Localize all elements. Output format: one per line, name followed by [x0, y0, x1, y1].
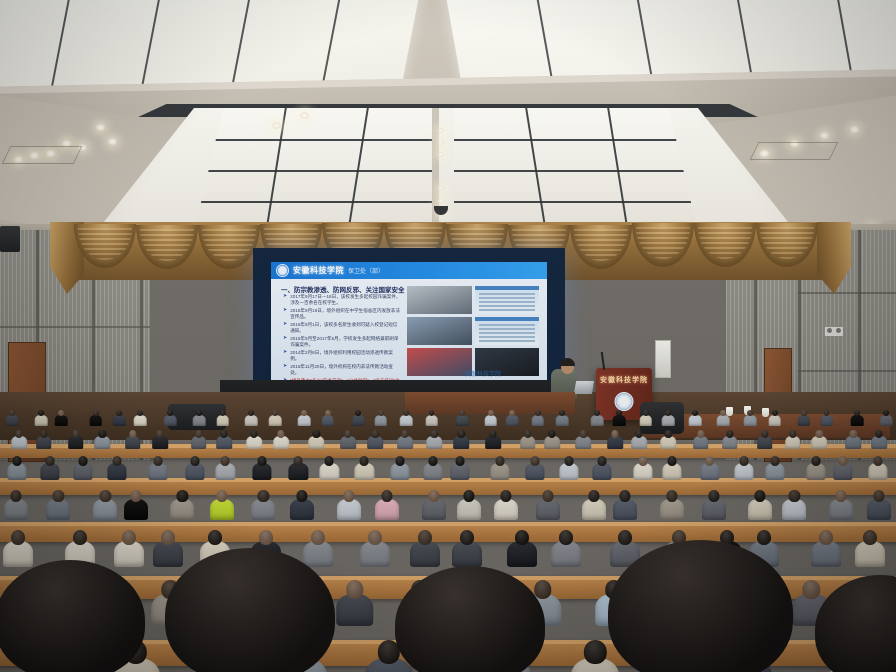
- audience-head: [618, 530, 632, 545]
- audience-torso: [613, 415, 626, 426]
- audience-member: [107, 456, 126, 482]
- foreground-head: [165, 548, 335, 672]
- slide-bullet-list: ➤2017年9月17日—18日，该校发生多起校园诈骗案件，涉及一百余名在校学生。…: [283, 294, 401, 380]
- audience-head: [418, 530, 432, 545]
- audience-head: [619, 490, 630, 502]
- audience-head: [382, 490, 393, 502]
- audience-head: [535, 410, 541, 416]
- audience-head: [854, 410, 860, 416]
- audience-head: [154, 456, 163, 466]
- audience-member: [613, 410, 626, 427]
- audience-member: [41, 456, 60, 482]
- audience-head: [272, 410, 278, 416]
- audience-member: [717, 410, 730, 427]
- bullet-text: 2016年11月20日，境外机构在校内非法传教活动查处。: [290, 364, 401, 375]
- audience-head: [208, 530, 222, 545]
- audience-torso: [591, 415, 604, 426]
- audience-head: [195, 430, 202, 438]
- bullet-text: 2014年2月8日，境外组织利用校园活动渗透传教案例。: [290, 350, 401, 361]
- audience-head: [616, 410, 622, 416]
- audience-member: [491, 456, 510, 482]
- audience-head: [72, 430, 79, 438]
- audience-head: [612, 430, 619, 438]
- audience-member: [531, 410, 544, 427]
- audience-member: [689, 410, 702, 427]
- audience-torso: [531, 415, 544, 426]
- audience-member: [782, 490, 806, 523]
- audience-head: [638, 456, 647, 466]
- audience-head: [11, 530, 25, 545]
- audience-member: [452, 530, 482, 571]
- audience-member: [871, 430, 887, 451]
- bullet-marker-icon: ➤: [283, 308, 287, 319]
- audience-head: [138, 410, 144, 416]
- bullet-marker-icon: ➤: [283, 294, 287, 305]
- audience-torso: [322, 415, 335, 426]
- audience-member: [526, 456, 545, 482]
- audience-member: [355, 456, 374, 482]
- audience-member: [397, 430, 413, 451]
- audience-head: [248, 410, 254, 416]
- audience-head: [460, 410, 466, 416]
- chat-list-screenshot: [475, 317, 540, 345]
- audience-head: [130, 490, 141, 502]
- audience-head: [819, 530, 833, 545]
- audience-head: [635, 430, 642, 438]
- audience-member: [613, 490, 637, 523]
- audience-torso: [164, 415, 177, 426]
- audience-head: [665, 430, 672, 438]
- audience-member: [829, 490, 853, 523]
- student-audience: [0, 404, 896, 672]
- audience-member: [35, 410, 48, 427]
- audience-member: [744, 410, 757, 427]
- audience-member: [216, 410, 229, 427]
- audience-member: [320, 456, 339, 482]
- audience-member: [149, 456, 168, 482]
- audience-member: [734, 456, 753, 482]
- audience-head: [378, 410, 384, 416]
- slide-subtitle: 保卫处（部）: [348, 266, 384, 275]
- audience-member: [593, 456, 612, 482]
- audience-head: [705, 456, 714, 466]
- audience-torso: [425, 415, 438, 426]
- audience-member: [298, 410, 311, 427]
- audience-head: [874, 490, 885, 502]
- audience-member: [868, 456, 887, 482]
- audience-member: [867, 490, 891, 523]
- audience-head: [708, 490, 719, 502]
- audience-member: [536, 490, 560, 523]
- audience-member: [551, 530, 581, 571]
- audience-head: [531, 456, 540, 466]
- audience-torso: [880, 415, 893, 426]
- audience-head: [161, 530, 175, 545]
- person-at-desk-photo: [407, 317, 472, 345]
- audience-torso: [744, 415, 757, 426]
- audience-member: [410, 530, 440, 571]
- audience-member: [880, 410, 893, 427]
- audience-head: [360, 456, 369, 466]
- downlight: [850, 126, 859, 133]
- audience-member: [55, 410, 68, 427]
- slide-footer-logo: 安徽科技学院: [465, 369, 501, 378]
- audience-member: [820, 410, 833, 427]
- audience-head: [580, 430, 587, 438]
- audience-head: [489, 430, 496, 438]
- lectern-text: 安徽科技学院: [596, 375, 652, 385]
- audience-member: [494, 490, 518, 523]
- audience-torso: [374, 415, 387, 426]
- downlight: [438, 140, 444, 145]
- audience-head: [589, 490, 600, 502]
- audience-head: [839, 456, 848, 466]
- audience-torso: [352, 415, 365, 426]
- audience-member: [425, 410, 438, 427]
- luminous-ceiling-panels: [96, 108, 796, 232]
- audience-head: [875, 430, 882, 438]
- audience-head: [801, 410, 807, 416]
- audience-head: [726, 430, 733, 438]
- audience-torso: [336, 594, 374, 627]
- slide-title-bar: 安徽科技学院 保卫处（部）: [271, 262, 547, 279]
- audience-head: [524, 430, 531, 438]
- audience-member: [556, 410, 569, 427]
- audience-member: [660, 490, 684, 523]
- audience-head: [167, 410, 173, 416]
- audience-head: [277, 430, 284, 438]
- audience-head: [665, 410, 671, 416]
- audience-head: [346, 580, 364, 599]
- downlight: [438, 198, 444, 203]
- audience-member: [748, 490, 772, 523]
- audience-head: [9, 410, 15, 416]
- audience-member: [640, 410, 653, 427]
- audience-member: [186, 456, 205, 482]
- two-men-standing-photo: [407, 286, 472, 314]
- audience-head: [112, 456, 121, 466]
- downlight: [96, 124, 105, 131]
- wall-speaker-left: [0, 226, 20, 252]
- slide-bullet: ➤2016年9月1日，该校多名新生收到可疑入校登记短信通知。: [283, 322, 401, 333]
- audience-member: [833, 456, 852, 482]
- audience-member: [582, 490, 606, 523]
- audience-member: [269, 410, 282, 427]
- audience-head: [122, 530, 136, 545]
- audience-head: [429, 410, 435, 416]
- audience-head: [16, 430, 23, 438]
- audience-head: [824, 410, 830, 416]
- audience-member: [95, 430, 111, 451]
- audience-head: [811, 456, 820, 466]
- microphone-icon: [601, 352, 605, 370]
- bullet-marker-icon: ➤: [283, 364, 287, 375]
- audience-torso: [89, 415, 102, 426]
- audience-head: [428, 456, 437, 466]
- bullet-text: 2016年9月1日，该校多名新生收到可疑入校登记短信通知。: [290, 322, 401, 333]
- audience-member: [506, 410, 519, 427]
- audience-head: [559, 530, 573, 545]
- audience-member: [251, 490, 275, 523]
- audience-head: [771, 456, 780, 466]
- audience-head: [11, 490, 22, 502]
- audience-member: [785, 430, 801, 451]
- audience-head: [39, 410, 45, 416]
- audience-torso: [245, 415, 258, 426]
- audience-head: [294, 456, 303, 466]
- audience-member: [846, 430, 862, 451]
- audience-member: [633, 456, 652, 482]
- audience-head: [355, 410, 361, 416]
- audience-member: [289, 456, 308, 482]
- audience-head: [177, 490, 188, 502]
- audience-head: [584, 640, 606, 664]
- audience-member: [485, 430, 501, 451]
- audience-head: [748, 410, 754, 416]
- downlight-trim: [750, 142, 839, 160]
- audience-head: [157, 430, 164, 438]
- audience-member: [811, 530, 841, 571]
- slide-bullet: ➤2016年11月20日，境外机构在校内非法传教活动查处。: [283, 364, 401, 375]
- audience-head: [325, 410, 331, 416]
- audience-member: [812, 430, 828, 451]
- audience-head: [53, 490, 64, 502]
- audience-member: [152, 430, 168, 451]
- audience-head: [802, 580, 820, 599]
- audience-torso: [851, 415, 864, 426]
- bullet-marker-icon: ➤: [283, 336, 287, 347]
- audience-head: [259, 530, 273, 545]
- audience-member: [423, 456, 442, 482]
- bullet-text: 2015年9月至2017年5月，学校发生多起网络兼职刷单诈骗案件。: [290, 336, 401, 347]
- audience-member: [375, 490, 399, 523]
- audience-member: [89, 410, 102, 427]
- audience-head: [721, 410, 727, 416]
- presenter-laptop: [574, 381, 594, 394]
- audience-member: [662, 410, 675, 427]
- audience-head: [789, 490, 800, 502]
- audience-torso: [55, 415, 68, 426]
- audience-member: [93, 490, 117, 523]
- downlight: [438, 152, 444, 157]
- audience-member: [246, 430, 262, 451]
- bullet-text: 2017年9月17日—18日，该校发生多起校园诈骗案件，涉及一百余名在校学生。: [290, 294, 401, 305]
- audience-head: [59, 410, 65, 416]
- slide-title: 安徽科技学院: [293, 265, 344, 276]
- audience-head: [251, 430, 258, 438]
- audience-head: [221, 456, 230, 466]
- audience-torso: [820, 415, 833, 426]
- audience-member: [575, 430, 591, 451]
- audience-member: [607, 430, 623, 451]
- audience-head: [754, 490, 765, 502]
- audience-member: [457, 490, 481, 523]
- audience-member: [806, 456, 825, 482]
- ceiling: [0, 0, 896, 232]
- audience-member: [68, 430, 84, 451]
- audience-head: [12, 456, 21, 466]
- audience-member: [337, 490, 361, 523]
- audience-member: [340, 430, 356, 451]
- downlight: [820, 132, 829, 139]
- audience-member: [360, 530, 390, 571]
- audience-member: [252, 456, 271, 482]
- audience-head: [835, 490, 846, 502]
- audience-torso: [640, 415, 653, 426]
- audience-member: [170, 490, 194, 523]
- audience-member: [216, 430, 232, 451]
- foreground-head: [0, 560, 145, 672]
- audience-member: [520, 430, 536, 451]
- audience-head: [311, 530, 325, 545]
- downlight: [272, 122, 281, 129]
- audience-member: [336, 580, 374, 631]
- audience-torso: [689, 415, 702, 426]
- audience-head: [129, 430, 136, 438]
- audience-head: [757, 530, 771, 545]
- audience-member: [722, 430, 738, 451]
- audience-head: [501, 490, 512, 502]
- audience-member: [164, 410, 177, 427]
- audience-member: [3, 530, 33, 571]
- audience-member: [6, 410, 19, 427]
- audience-torso: [35, 415, 48, 426]
- audience-head: [559, 410, 565, 416]
- audience-member: [134, 410, 147, 427]
- audience-head: [313, 430, 320, 438]
- audience-head: [598, 456, 607, 466]
- audience-head: [401, 430, 408, 438]
- audience-member: [74, 456, 93, 482]
- audience-head: [73, 530, 87, 545]
- audience-head: [542, 490, 553, 502]
- slide-heading: 一、防宗教渗透、防网反邪、关注国家安全: [281, 284, 405, 294]
- audience-head: [396, 456, 405, 466]
- audience-torso: [798, 415, 811, 426]
- audience-member: [191, 430, 207, 451]
- audience-head: [217, 490, 228, 502]
- audience-member: [507, 530, 537, 571]
- audience-member: [124, 490, 148, 523]
- audience-member: [693, 430, 709, 451]
- audience-head: [548, 430, 555, 438]
- foreground-head: [608, 540, 793, 672]
- audience-head: [643, 410, 649, 416]
- audience-head: [258, 490, 269, 502]
- audience-head: [220, 430, 227, 438]
- bullet-marker-icon: ➤: [283, 350, 287, 361]
- audience-torso: [506, 415, 519, 426]
- audience-member: [591, 410, 604, 427]
- audience-member: [456, 410, 469, 427]
- audience-head: [789, 430, 796, 438]
- audience-member: [193, 410, 206, 427]
- slide-bullet: ➤2015年9月至2017年5月，学校发生多起网络兼职刷单诈骗案件。: [283, 336, 401, 347]
- audience-head: [515, 530, 529, 545]
- audience-member: [571, 640, 619, 672]
- audience-head: [761, 430, 768, 438]
- audience-torso: [193, 415, 206, 426]
- audience-head: [488, 410, 494, 416]
- presenter-hair: [560, 358, 575, 366]
- audience-member: [245, 410, 258, 427]
- audience-head: [404, 410, 410, 416]
- audience-head: [873, 456, 882, 466]
- audience-head: [257, 456, 266, 466]
- audience-head: [428, 490, 439, 502]
- audience-head: [883, 410, 889, 416]
- audience-torso: [662, 415, 675, 426]
- audience-member: [544, 430, 560, 451]
- audience-torso: [269, 415, 282, 426]
- audience-torso: [556, 415, 569, 426]
- audience-head: [863, 530, 877, 545]
- audience-head: [460, 530, 474, 545]
- wall-fixture-panel: [655, 340, 671, 378]
- audience-head: [667, 456, 676, 466]
- audience-head: [99, 430, 106, 438]
- audience-member: [273, 430, 289, 451]
- audience-member: [216, 456, 235, 482]
- audience-member: [368, 430, 384, 451]
- bullet-marker-icon: ➤: [283, 322, 287, 333]
- slide-bullet: ➤2017年9月17日—18日，该校发生多起校园诈骗案件，涉及一百余名在校学生。: [283, 294, 401, 305]
- audience-member: [757, 430, 773, 451]
- audience-member: [454, 430, 470, 451]
- audience-head: [191, 456, 200, 466]
- audience-head: [697, 430, 704, 438]
- downlight-trim: [2, 146, 83, 164]
- slide-bullet: ➤2015年9月16日，境外组织在中学生宿舍区内发放非法宣传品。: [283, 308, 401, 319]
- audience-member: [769, 410, 782, 427]
- auditorium-photo: 安徽科技学院 保卫处（部） 一、防宗教渗透、防网反邪、关注国家安全 ➤2017年…: [0, 0, 896, 672]
- audience-head: [534, 580, 552, 599]
- audience-head: [458, 430, 465, 438]
- audience-torso: [6, 415, 19, 426]
- audience-member: [422, 490, 446, 523]
- slide-bullet: ➤2014年2月8日，境外组织利用校园活动渗透传教案例。: [283, 350, 401, 361]
- audience-head: [40, 430, 47, 438]
- audience-head: [46, 456, 55, 466]
- emergency-light: [824, 326, 844, 337]
- audience-head: [196, 410, 202, 416]
- audience-head: [325, 456, 334, 466]
- audience-member: [702, 490, 726, 523]
- audience-member: [352, 410, 365, 427]
- audience-head: [594, 410, 600, 416]
- audience-member: [427, 430, 443, 451]
- audience-member: [766, 456, 785, 482]
- audience-member: [114, 530, 144, 571]
- audience-member: [662, 456, 681, 482]
- audience-head: [850, 430, 857, 438]
- audience-head: [509, 410, 515, 416]
- audience-member: [484, 410, 497, 427]
- audience-head: [343, 490, 354, 502]
- audience-head: [220, 410, 226, 416]
- audience-member: [7, 456, 26, 482]
- audience-head: [117, 410, 123, 416]
- audience-head: [93, 410, 99, 416]
- audience-member: [36, 430, 52, 451]
- audience-head: [372, 430, 379, 438]
- audience-member: [46, 490, 70, 523]
- audience-member: [290, 490, 314, 523]
- audience-member: [700, 456, 719, 482]
- audience-head: [740, 456, 749, 466]
- audience-torso: [484, 415, 497, 426]
- bullet-text: 2015年9月16日，境外组织在中学生宿舍区内发放非法宣传品。: [290, 308, 401, 319]
